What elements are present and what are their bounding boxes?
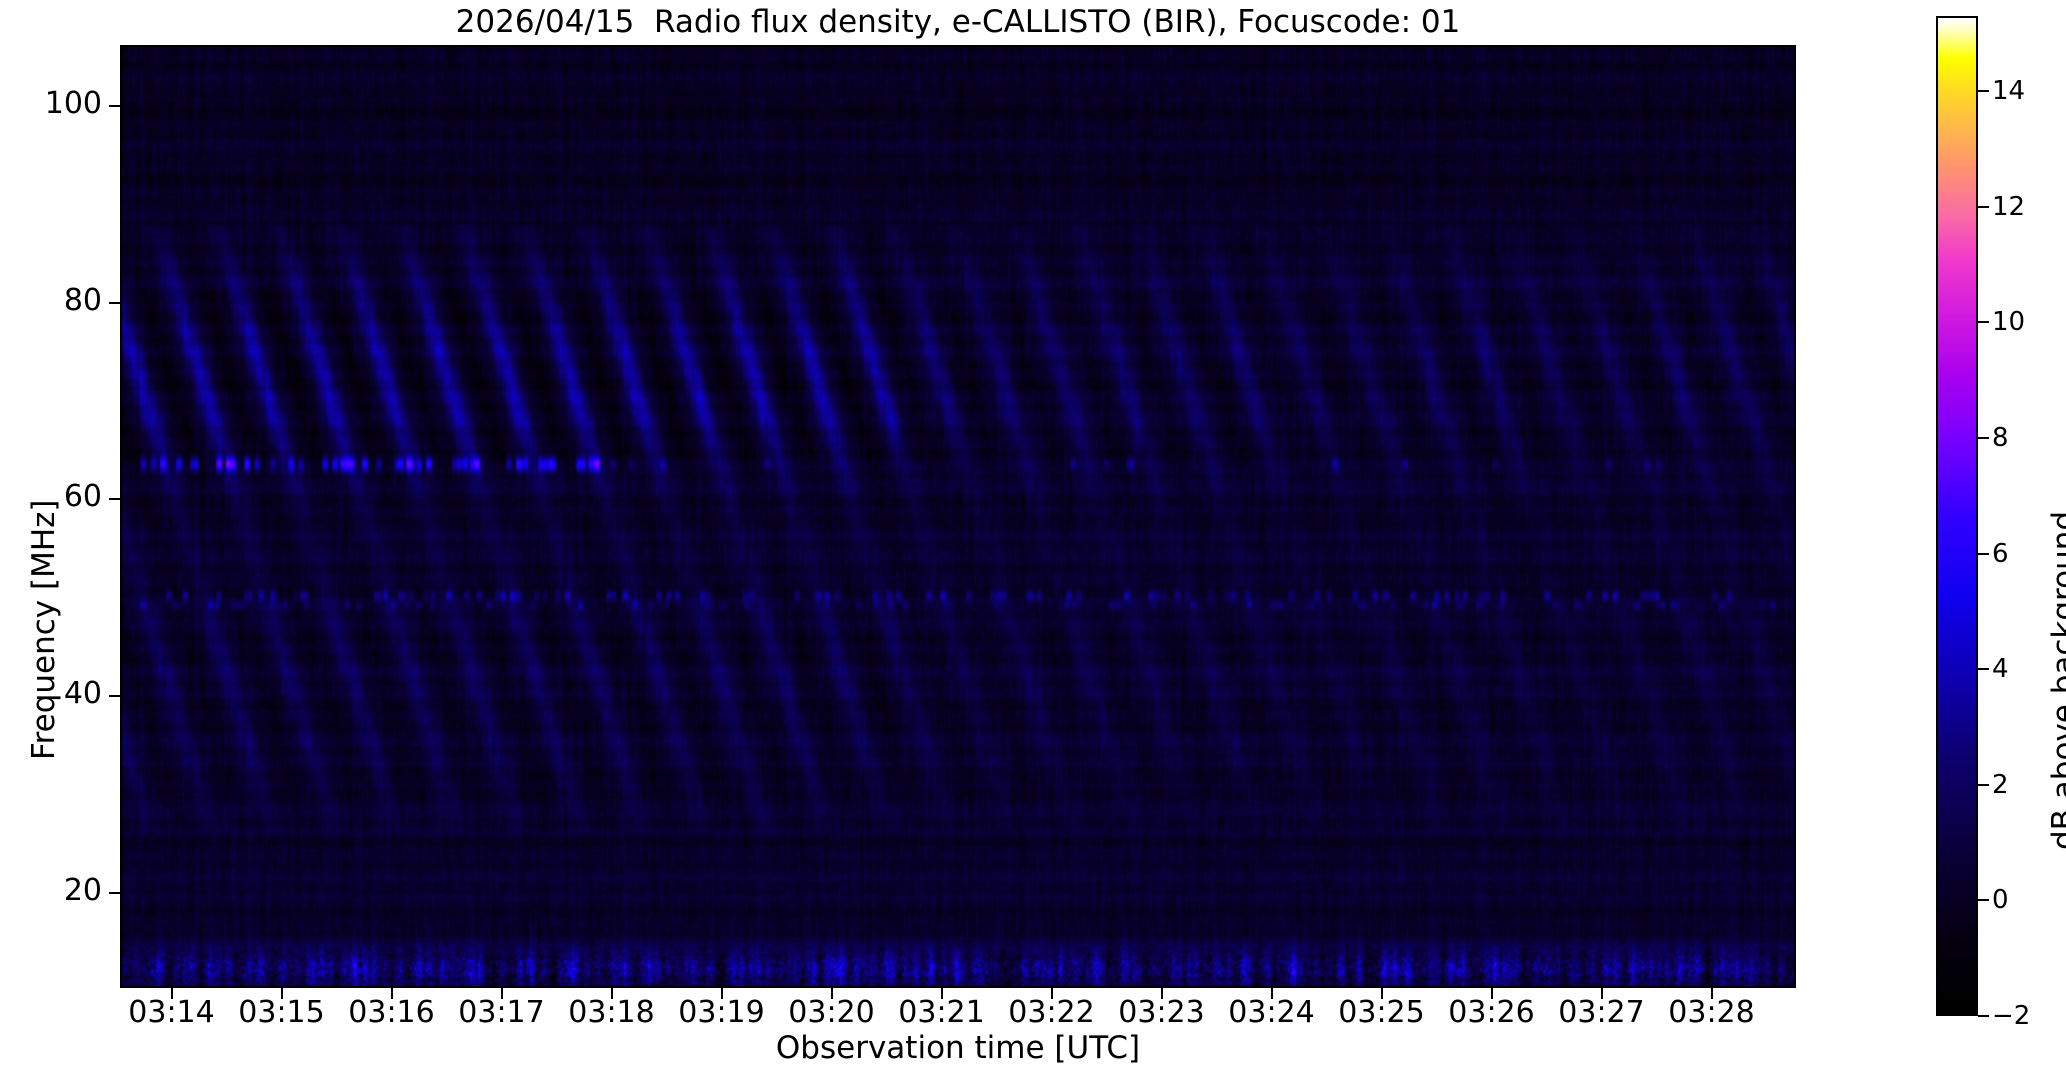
- x-tick-mark: [1601, 988, 1603, 999]
- spectrogram-image: [122, 47, 1794, 986]
- y-axis-label: Frequency [MHz]: [26, 499, 62, 760]
- colorbar-tick-mark: [1978, 437, 1989, 439]
- colorbar-tick-label: 10: [1992, 307, 2025, 337]
- y-tick-label: 100: [30, 86, 102, 121]
- x-axis-label: Observation time [UTC]: [120, 1030, 1796, 1066]
- colorbar-tick-mark: [1978, 784, 1989, 786]
- colorbar-tick-mark: [1978, 899, 1989, 901]
- x-tick-mark: [1271, 988, 1273, 999]
- page-title: 2026/04/15 Radio flux density, e-CALLIST…: [120, 2, 1796, 42]
- x-tick-mark: [1161, 988, 1163, 999]
- colorbar-tick-label: −2: [1992, 1001, 2030, 1031]
- y-tick-mark: [109, 498, 120, 500]
- x-tick-label: 03:25: [1338, 995, 1424, 1030]
- x-tick-mark: [721, 988, 723, 999]
- x-tick-mark: [1491, 988, 1493, 999]
- colorbar-tick-label: 0: [1992, 885, 2009, 915]
- x-tick-mark: [1381, 988, 1383, 999]
- x-tick-mark: [1051, 988, 1053, 999]
- y-tick-label: 20: [30, 873, 102, 908]
- x-tick-label: 03:16: [348, 995, 434, 1030]
- x-tick-label: 03:19: [678, 995, 764, 1030]
- x-tick-label: 03:21: [898, 995, 984, 1030]
- x-tick-mark: [171, 988, 173, 999]
- x-tick-label: 03:20: [788, 995, 874, 1030]
- colorbar-tick-label: 2: [1992, 770, 2009, 800]
- x-tick-mark: [391, 988, 393, 999]
- x-tick-label: 03:26: [1448, 995, 1534, 1030]
- x-tick-mark: [281, 988, 283, 999]
- colorbar-tick-mark: [1978, 321, 1989, 323]
- x-tick-label: 03:27: [1558, 995, 1644, 1030]
- y-tick-mark: [109, 892, 120, 894]
- colorbar-tick-mark: [1978, 668, 1989, 670]
- y-tick-mark: [109, 302, 120, 304]
- spectrogram-figure: 2026/04/15 Radio flux density, e-CALLIST…: [0, 0, 2066, 1067]
- y-tick-mark: [109, 105, 120, 107]
- x-tick-label: 03:24: [1228, 995, 1314, 1030]
- colorbar-tick-mark: [1978, 90, 1989, 92]
- colorbar-tick-mark: [1978, 553, 1989, 555]
- colorbar-tick-label: 12: [1992, 192, 2025, 222]
- x-tick-label: 03:23: [1118, 995, 1204, 1030]
- colorbar-tick-mark: [1978, 206, 1989, 208]
- x-tick-mark: [1711, 988, 1713, 999]
- colorbar-tick-mark: [1978, 1015, 1989, 1017]
- y-tick-mark: [109, 695, 120, 697]
- x-tick-label: 03:18: [568, 995, 654, 1030]
- colorbar-gradient: [1938, 18, 1976, 1014]
- colorbar-label: dB above background: [2046, 511, 2066, 850]
- colorbar-tick-label: 14: [1992, 76, 2025, 106]
- colorbar: [1936, 16, 1978, 1016]
- y-tick-label: 80: [30, 283, 102, 318]
- x-tick-mark: [501, 988, 503, 999]
- x-tick-mark: [941, 988, 943, 999]
- colorbar-tick-label: 6: [1992, 539, 2009, 569]
- x-tick-label: 03:22: [1008, 995, 1094, 1030]
- x-tick-mark: [611, 988, 613, 999]
- x-tick-label: 03:14: [128, 995, 214, 1030]
- x-tick-label: 03:28: [1668, 995, 1754, 1030]
- spectrogram-plot-area: [120, 45, 1796, 988]
- x-tick-label: 03:17: [458, 995, 544, 1030]
- colorbar-tick-label: 8: [1992, 423, 2009, 453]
- x-tick-label: 03:15: [238, 995, 324, 1030]
- x-tick-mark: [831, 988, 833, 999]
- colorbar-tick-label: 4: [1992, 654, 2009, 684]
